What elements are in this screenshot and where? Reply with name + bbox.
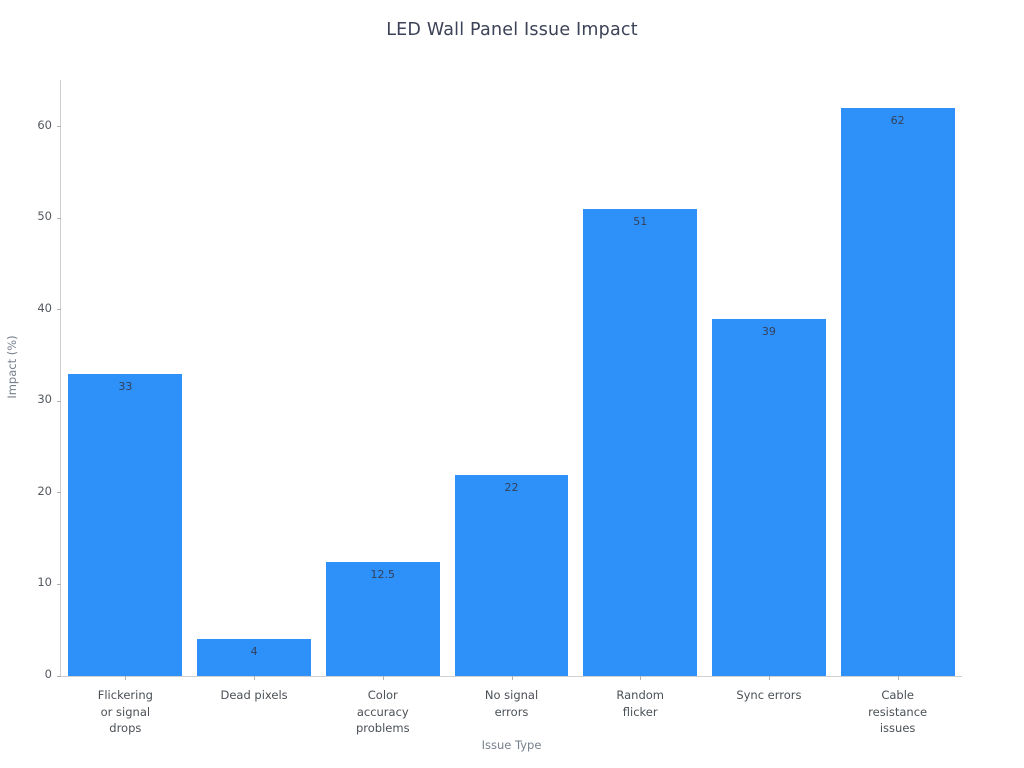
- bar[interactable]: [712, 319, 826, 676]
- chart-title: LED Wall Panel Issue Impact: [0, 20, 1024, 40]
- y-tick-label: 0: [45, 667, 52, 681]
- x-tick-mark: [512, 676, 513, 680]
- bar-group: 4: [197, 80, 311, 676]
- x-tick-mark: [640, 676, 641, 680]
- y-tick-label: 10: [37, 575, 52, 589]
- bar-value-label: 4: [197, 645, 311, 658]
- x-tick: Color accuracy problems: [313, 676, 453, 737]
- bar-series: 33412.522513962: [61, 80, 962, 676]
- x-axis-ticks: Flickering or signal dropsDead pixelsCol…: [61, 676, 962, 746]
- x-tick-mark: [254, 676, 255, 680]
- x-tick-mark: [898, 676, 899, 680]
- x-tick: No signal errors: [442, 676, 582, 720]
- bar[interactable]: [583, 209, 697, 676]
- y-tick-label: 40: [37, 301, 52, 315]
- y-tick-label: 30: [37, 392, 52, 406]
- x-tick-label: Color accuracy problems: [313, 687, 453, 737]
- y-axis-label: Impact (%): [5, 317, 19, 417]
- bar[interactable]: [455, 475, 569, 676]
- bar-value-label: 33: [68, 380, 182, 393]
- x-tick-label: Dead pixels: [184, 687, 324, 704]
- chart-figure: LED Wall Panel Issue Impact Impact (%) I…: [0, 0, 1024, 768]
- bar-group: 12.5: [326, 80, 440, 676]
- bar-group: 22: [455, 80, 569, 676]
- x-tick: Flickering or signal drops: [55, 676, 195, 737]
- bar-value-label: 62: [841, 114, 955, 127]
- bar-value-label: 39: [712, 325, 826, 338]
- bar-group: 33: [68, 80, 182, 676]
- bar[interactable]: [841, 108, 955, 676]
- bar-value-label: 51: [583, 215, 697, 228]
- x-tick-label: Random flicker: [570, 687, 710, 720]
- x-tick: Random flicker: [570, 676, 710, 720]
- bar-group: 39: [712, 80, 826, 676]
- x-tick: Cable resistance issues: [828, 676, 968, 737]
- bar-value-label: 12.5: [326, 568, 440, 581]
- y-tick-label: 20: [37, 484, 52, 498]
- y-tick-label: 60: [37, 118, 52, 132]
- x-tick-label: Flickering or signal drops: [55, 687, 195, 737]
- plot-area: 0102030405060 33412.522513962: [61, 80, 962, 676]
- x-tick-label: No signal errors: [442, 687, 582, 720]
- x-tick-label: Cable resistance issues: [828, 687, 968, 737]
- x-tick: Sync errors: [699, 676, 839, 704]
- x-tick-mark: [125, 676, 126, 680]
- bar-group: 62: [841, 80, 955, 676]
- y-tick-label: 50: [37, 209, 52, 223]
- x-tick-label: Sync errors: [699, 687, 839, 704]
- x-tick: Dead pixels: [184, 676, 324, 704]
- bar-value-label: 22: [455, 481, 569, 494]
- x-tick-mark: [383, 676, 384, 680]
- bar-group: 51: [583, 80, 697, 676]
- bar[interactable]: [68, 374, 182, 676]
- x-tick-mark: [769, 676, 770, 680]
